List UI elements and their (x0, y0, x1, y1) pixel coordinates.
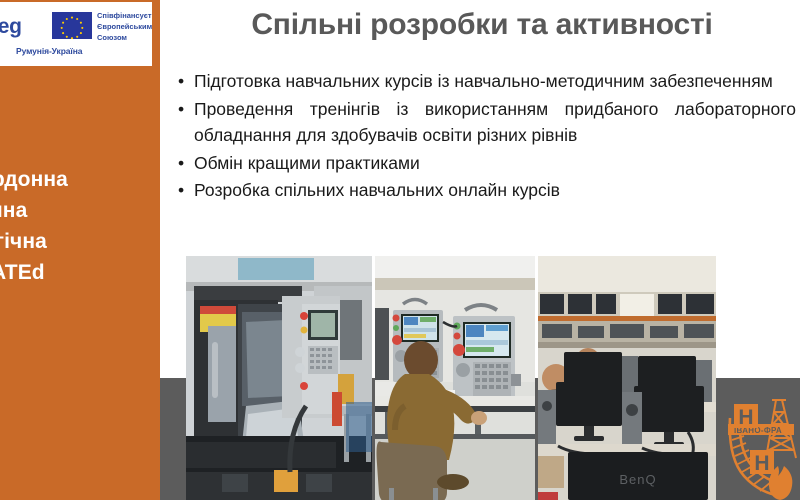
svg-text:BenQ: BenQ (619, 472, 656, 487)
bullet-item: • Проведення тренінгів із використанням … (172, 96, 796, 149)
bullet-text: Розробка спільних навчальних онлайн курс… (194, 177, 796, 204)
bullet-text: Підготовка навчальних курсів із навчальн… (194, 68, 796, 95)
bullet-text: Проведення тренінгів із використанням пр… (194, 96, 796, 149)
interreg-wordmark: rreg (0, 15, 22, 39)
bullet-marker-icon: • (178, 96, 184, 123)
bullet-item: • Розробка спільних навчальних онлайн ку… (172, 177, 796, 204)
interreg-country-pair-label: Румунія-Україна (16, 46, 82, 56)
photo-strip: BenQ (186, 256, 716, 500)
bullet-item: • Обмін кращими практиками (172, 150, 796, 177)
eu-flag-icon (52, 12, 92, 39)
presentation-slide: нскордонна демічна нологічна іта - ATEd … (0, 0, 800, 500)
cnc-lathe-machine-photo (186, 256, 372, 500)
bullet-marker-icon: • (178, 177, 184, 204)
bullet-item: • Підготовка навчальних курсів із навчал… (172, 68, 796, 95)
bullet-list: • Підготовка навчальних курсів із навчал… (172, 68, 796, 205)
slide-title: Спільні розробки та активності (168, 8, 796, 42)
svg-text:Н: Н (738, 406, 753, 429)
project-name-text: нскордонна демічна нологічна іта - ATEd (0, 165, 160, 288)
student-at-cnc-control-panels-photo (375, 256, 535, 500)
bullet-marker-icon: • (178, 150, 184, 177)
interreg-logo-block: rreg T Румунія-Україна (0, 2, 152, 66)
bullet-marker-icon: • (178, 68, 184, 95)
computer-lab-students-photo: BenQ (538, 256, 716, 500)
ivano-frankivsk-university-emblem: ІВАНО-ФРА Н Н (722, 396, 800, 500)
sidebar-panel: нскордонна демічна нологічна іта - ATEd (0, 0, 160, 500)
svg-text:Н: Н (754, 452, 769, 475)
bullet-text: Обмін кращими практиками (194, 150, 796, 177)
eu-cofinance-text: Співфінансується Європейським Союзом (97, 11, 152, 44)
